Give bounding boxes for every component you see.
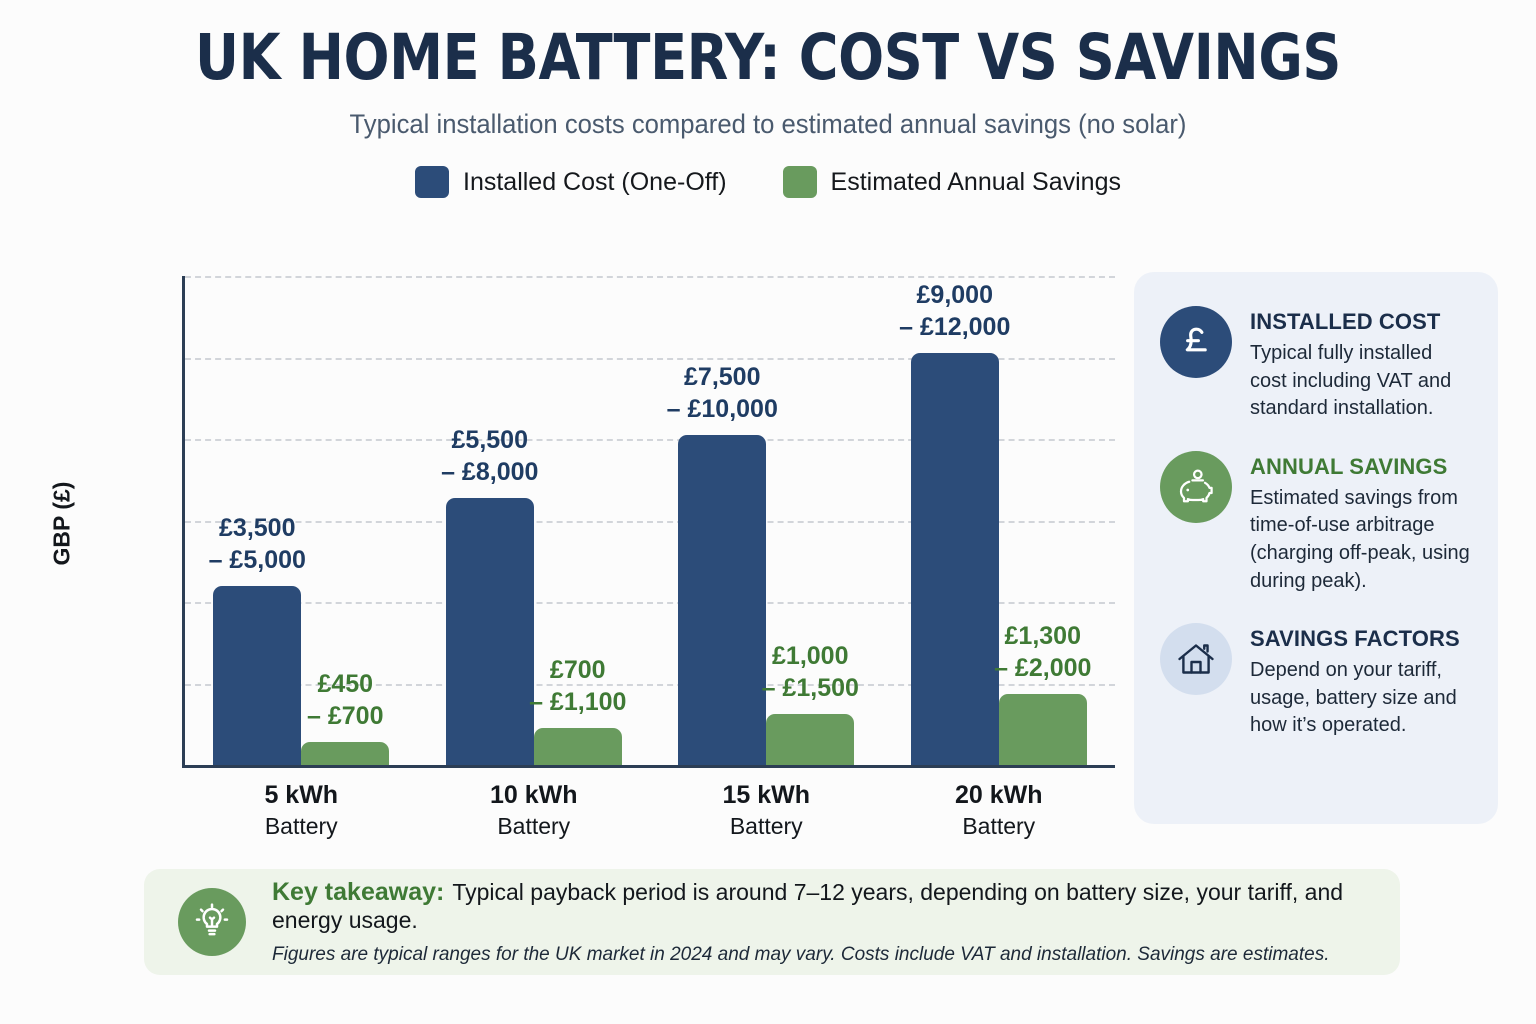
page-title: UK HOME BATTERY: COST VS SAVINGS <box>108 26 1429 89</box>
takeaway-text-block: Key takeaway:Typical payback period is a… <box>272 878 1366 966</box>
legend-label-cost: Installed Cost (One-Off) <box>463 168 727 197</box>
legend-swatch-cost <box>415 166 449 198</box>
info-item-text: INSTALLED COST Typical fully installed c… <box>1250 306 1472 423</box>
plot-area: £0£2,000£4,000£6,000£8,000£10,000£12,000… <box>182 276 1115 768</box>
info-heading: SAVINGS FACTORS <box>1250 626 1472 652</box>
bar-value-label-line1: £1,300 <box>994 620 1091 652</box>
bar-installed-cost[interactable]: £7,500– £10,000 <box>678 435 766 765</box>
bar-value-label: £1,300– £2,000 <box>994 620 1091 684</box>
info-body: Estimated savings from time-of-use arbit… <box>1250 485 1472 595</box>
bar-value-label-line2: – £5,000 <box>209 544 306 576</box>
legend-item-cost[interactable]: Installed Cost (One-Off) <box>415 166 727 198</box>
bar-annual-savings[interactable]: £450– £700 <box>301 742 389 765</box>
y-axis-title: GBP (£) <box>49 424 76 624</box>
bar-installed-cost[interactable]: £9,000– £12,000 <box>911 353 999 765</box>
bar-value-label-line1: £3,500 <box>209 512 306 544</box>
bar-value-label: £5,500– £8,000 <box>441 424 538 488</box>
info-heading: ANNUAL SAVINGS <box>1250 454 1472 480</box>
x-axis-tick-sub: Battery <box>955 813 1043 840</box>
bar-annual-savings[interactable]: £700– £1,100 <box>534 728 622 765</box>
bar-annual-savings[interactable]: £1,300– £2,000 <box>999 694 1087 765</box>
x-axis-tick-main: 15 kWh <box>722 781 810 810</box>
info-body: Depend on your tariff, usage, battery si… <box>1250 657 1472 740</box>
bar-value-label-line1: £5,500 <box>441 424 538 456</box>
bar-value-label-line2: – £1,500 <box>762 672 859 704</box>
bar-installed-cost[interactable]: £5,500– £8,000 <box>446 498 534 765</box>
info-item-text: ANNUAL SAVINGS Estimated savings from ti… <box>1250 451 1472 595</box>
bar-group: £3,500– £5,000£450– £7005 kWhBattery <box>185 276 418 765</box>
header: UK HOME BATTERY: COST VS SAVINGS Typical… <box>0 0 1536 140</box>
bar-value-label-line2: – £2,000 <box>994 652 1091 684</box>
bar-groups: £3,500– £5,000£450– £7005 kWhBattery£5,5… <box>185 276 1115 765</box>
bar-value-label-line1: £7,500 <box>667 361 778 393</box>
bar-value-label-line1: £450 <box>307 668 383 700</box>
bar-value-label: £3,500– £5,000 <box>209 512 306 576</box>
bar-group: £5,500– £8,000£700– £1,10010 kWhBattery <box>418 276 651 765</box>
info-item-savings-factors: SAVINGS FACTORS Depend on your tariff, u… <box>1160 623 1472 740</box>
info-heading: INSTALLED COST <box>1250 309 1472 335</box>
takeaway-footnote: Figures are typical ranges for the UK ma… <box>272 944 1366 966</box>
info-item-annual-savings: ANNUAL SAVINGS Estimated savings from ti… <box>1160 451 1472 595</box>
bar-value-label: £7,500– £10,000 <box>667 361 778 425</box>
bar-value-label: £700– £1,100 <box>529 654 626 718</box>
bar-chart: GBP (£) £0£2,000£4,000£6,000£8,000£10,00… <box>0 255 1130 855</box>
legend-item-savings[interactable]: Estimated Annual Savings <box>783 166 1121 198</box>
info-body: Typical fully installed cost including V… <box>1250 340 1472 423</box>
bar-value-label-line2: – £700 <box>307 700 383 732</box>
bar-installed-cost[interactable]: £3,500– £5,000 <box>213 586 301 765</box>
page-subtitle: Typical installation costs compared to e… <box>38 109 1497 140</box>
bar-value-label-line2: – £8,000 <box>441 456 538 488</box>
lightbulb-icon <box>178 888 246 956</box>
house-icon <box>1160 623 1232 695</box>
takeaway-main-text: Key takeaway:Typical payback period is a… <box>272 878 1366 934</box>
info-item-text: SAVINGS FACTORS Depend on your tariff, u… <box>1250 623 1472 740</box>
takeaway-lead: Key takeaway: <box>272 878 444 906</box>
bar-value-label-line2: – £10,000 <box>667 393 778 425</box>
x-axis-tick-label: 20 kWhBattery <box>955 781 1043 840</box>
x-axis-tick-main: 20 kWh <box>955 781 1043 810</box>
piggy-bank-icon <box>1160 451 1232 523</box>
x-axis-tick-label: 10 kWhBattery <box>490 781 578 840</box>
x-axis-tick-label: 15 kWhBattery <box>722 781 810 840</box>
info-panel: INSTALLED COST Typical fully installed c… <box>1134 272 1498 824</box>
legend-swatch-savings <box>783 166 817 198</box>
x-axis-tick-label: 5 kWhBattery <box>264 781 338 840</box>
bar-value-label-line2: – £1,100 <box>529 686 626 718</box>
bar-value-label-line1: £9,000 <box>899 279 1010 311</box>
bar-value-label-line1: £1,000 <box>762 640 859 672</box>
bar-group: £9,000– £12,000£1,300– £2,00020 kWhBatte… <box>883 276 1116 765</box>
bar-value-label-line2: – £12,000 <box>899 311 1010 343</box>
x-axis-tick-main: 10 kWh <box>490 781 578 810</box>
bar-group: £7,500– £10,000£1,000– £1,50015 kWhBatte… <box>650 276 883 765</box>
pound-sterling-icon <box>1160 306 1232 378</box>
bar-value-label: £1,000– £1,500 <box>762 640 859 704</box>
bar-value-label: £450– £700 <box>307 668 383 732</box>
bar-value-label-line1: £700 <box>529 654 626 686</box>
info-item-installed-cost: INSTALLED COST Typical fully installed c… <box>1160 306 1472 423</box>
bar-annual-savings[interactable]: £1,000– £1,500 <box>766 714 854 765</box>
x-axis-tick-sub: Battery <box>264 813 338 840</box>
bar-value-label: £9,000– £12,000 <box>899 279 1010 343</box>
x-axis-tick-sub: Battery <box>490 813 578 840</box>
x-axis-tick-main: 5 kWh <box>264 781 338 810</box>
chart-legend: Installed Cost (One-Off) Estimated Annua… <box>0 166 1536 198</box>
legend-label-savings: Estimated Annual Savings <box>831 168 1121 197</box>
key-takeaway-banner: Key takeaway:Typical payback period is a… <box>144 869 1400 975</box>
x-axis-tick-sub: Battery <box>722 813 810 840</box>
